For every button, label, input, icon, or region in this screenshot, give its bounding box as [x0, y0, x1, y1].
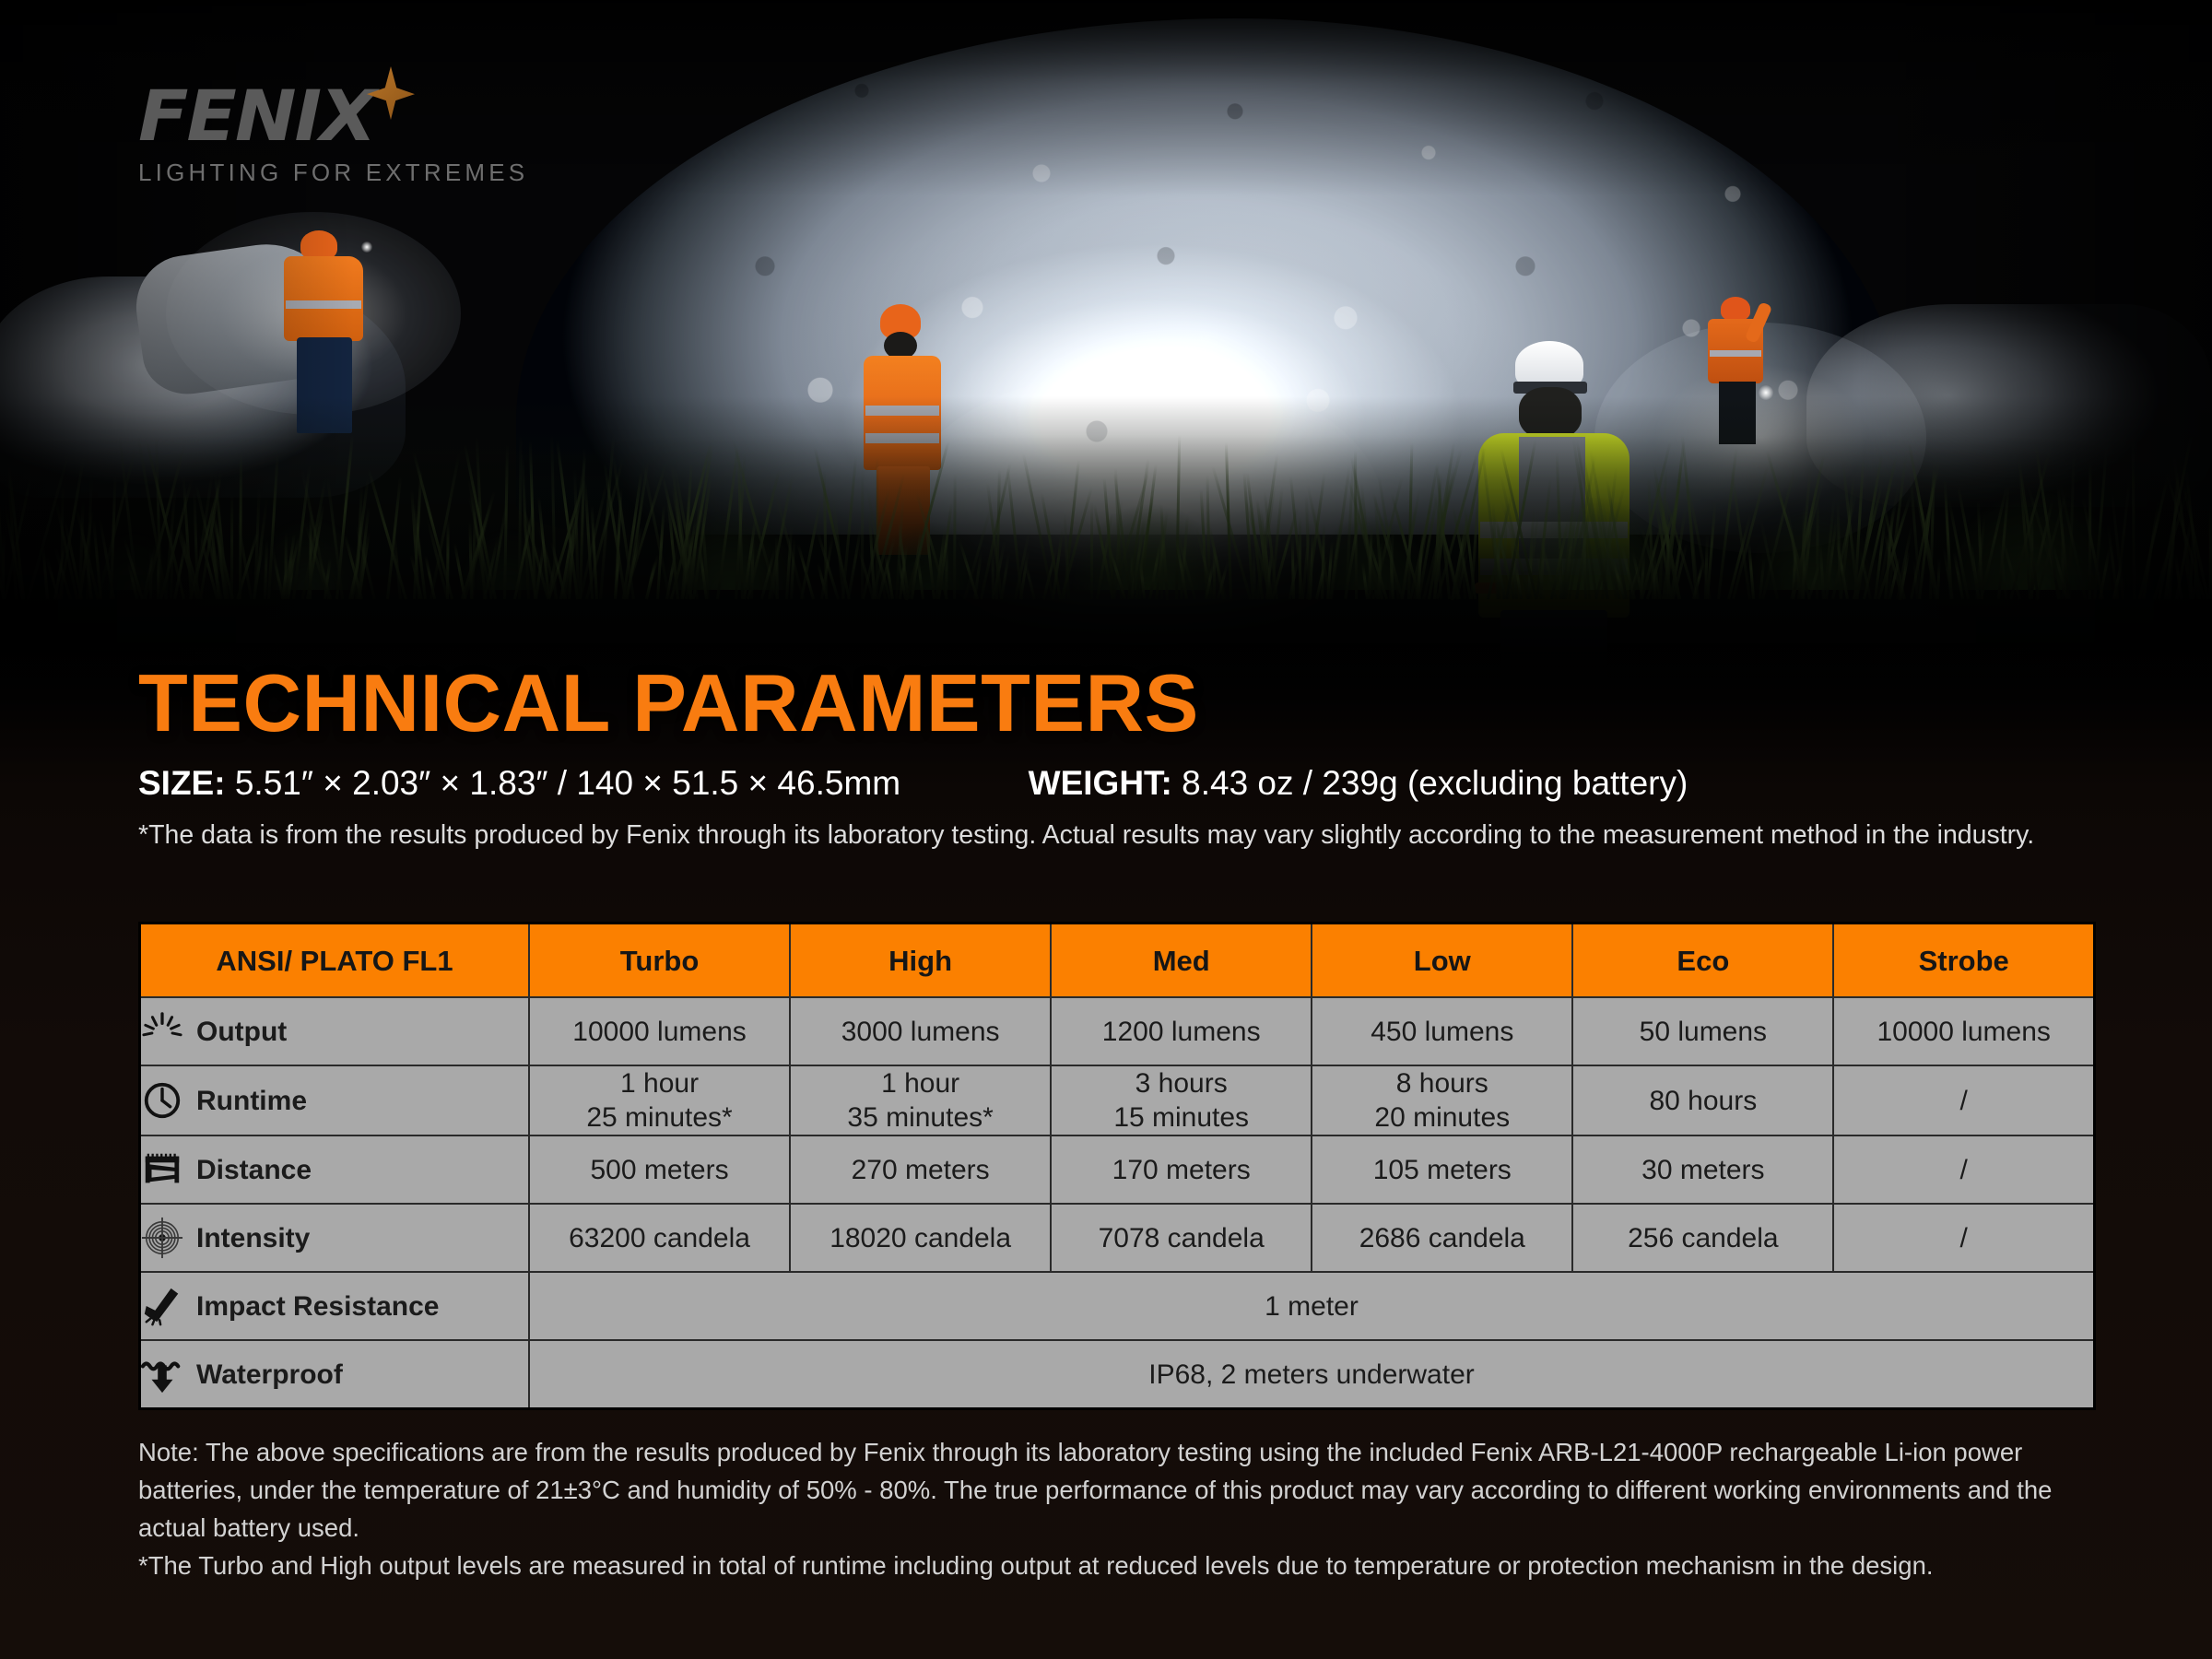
column-header-turbo: Turbo	[529, 924, 790, 998]
column-header-high: High	[790, 924, 1051, 998]
lab-testing-disclaimer: *The data is from the results produced b…	[138, 816, 2037, 854]
table-row: Runtime1 hour25 minutes*1 hour35 minutes…	[140, 1065, 2095, 1135]
column-header-med: Med	[1051, 924, 1312, 998]
grass-blade	[1175, 435, 1181, 599]
grass-blade	[2131, 437, 2135, 599]
light-burst-icon	[141, 1010, 183, 1053]
row-label: Impact Resistance	[196, 1289, 439, 1324]
cell-intensity-turbo: 63200 candela	[529, 1204, 790, 1272]
row-header-distance: Distance	[140, 1135, 530, 1204]
cell-intensity-med: 7078 candela	[1051, 1204, 1312, 1272]
grass-blade	[1006, 468, 1022, 599]
row-label: Waterproof	[196, 1358, 343, 1392]
specs-table-head: ANSI/ PLATO FL1TurboHighMedLowEcoStrobe	[140, 924, 2095, 998]
footer-note: Note: The above specifications are from …	[138, 1433, 2083, 1584]
row-header-output: Output	[140, 997, 530, 1065]
column-header-low: Low	[1312, 924, 1572, 998]
grass-blade	[917, 557, 925, 599]
logo-tagline: LIGHTING FOR EXTREMES	[138, 159, 528, 187]
grass-blade	[1480, 441, 1501, 600]
page-title: TECHNICAL PARAMETERS	[138, 659, 1199, 747]
cell-intensity-strobe: /	[1833, 1204, 2094, 1272]
waterproof-icon	[141, 1353, 183, 1395]
grass-blade	[2138, 475, 2170, 600]
grass-blade	[800, 500, 822, 599]
specs-table-wrapper: ANSI/ PLATO FL1TurboHighMedLowEcoStrobe …	[138, 922, 2096, 1410]
cell-intensity-eco: 256 candela	[1572, 1204, 1833, 1272]
cell-runtime-eco: 80 hours	[1572, 1065, 1833, 1135]
table-row: Output10000 lumens3000 lumens1200 lumens…	[140, 997, 2095, 1065]
weight-label: WEIGHT:	[1029, 764, 1172, 802]
grass-blade	[1936, 559, 1941, 599]
grass-blade	[1299, 516, 1301, 599]
grass-blade	[503, 445, 509, 599]
specs-table-body: Output10000 lumens3000 lumens1200 lumens…	[140, 997, 2095, 1409]
cell-runtime-high: 1 hour35 minutes*	[790, 1065, 1051, 1135]
row-header-waterproof: Waterproof	[140, 1340, 530, 1409]
cell-runtime-strobe: /	[1833, 1065, 2094, 1135]
size-value: 5.51″ × 2.03″ × 1.83″ / 140 × 51.5 × 46.…	[235, 764, 900, 802]
row-label: Distance	[196, 1153, 312, 1187]
size-label: SIZE:	[138, 764, 226, 802]
grass-blade	[157, 551, 159, 599]
grass-blade	[2099, 547, 2112, 599]
grass-blade	[335, 435, 354, 599]
cell-distance-eco: 30 meters	[1572, 1135, 1833, 1204]
row-label: Intensity	[196, 1221, 310, 1255]
cell-distance-turbo: 500 meters	[529, 1135, 790, 1204]
cell-distance-med: 170 meters	[1051, 1135, 1312, 1204]
cell-runtime-turbo: 1 hour25 minutes*	[529, 1065, 790, 1135]
specs-table: ANSI/ PLATO FL1TurboHighMedLowEcoStrobe …	[138, 922, 2096, 1410]
grass-blade	[1647, 477, 1654, 599]
cell-output-strobe: 10000 lumens	[1833, 997, 2094, 1065]
footer-note-line-1: Note: The above specifications are from …	[138, 1433, 2083, 1547]
cell-distance-low: 105 meters	[1312, 1135, 1572, 1204]
cell-output-high: 3000 lumens	[790, 997, 1051, 1065]
footer-note-line-2: *The Turbo and High output levels are me…	[138, 1547, 2083, 1584]
grass-blade	[309, 513, 312, 599]
table-row: WaterproofIP68, 2 meters underwater	[140, 1340, 2095, 1409]
cell-intensity-low: 2686 candela	[1312, 1204, 1572, 1272]
cell-impact-resistance: 1 meter	[529, 1272, 2095, 1340]
cell-intensity-high: 18020 candela	[790, 1204, 1051, 1272]
grass-blades	[0, 424, 2212, 599]
specs-panel: TECHNICAL PARAMETERS SIZE: 5.51″ × 2.03″…	[0, 645, 2212, 1659]
table-header-row: ANSI/ PLATO FL1TurboHighMedLowEcoStrobe	[140, 924, 2095, 998]
row-header-runtime: Runtime	[140, 1065, 530, 1135]
weight-value: 8.43 oz / 239g (excluding battery)	[1182, 764, 1688, 802]
cell-output-turbo: 10000 lumens	[529, 997, 790, 1065]
cell-output-eco: 50 lumens	[1572, 997, 1833, 1065]
row-label: Output	[196, 1015, 287, 1049]
table-row: Intensity63200 candela18020 candela7078 …	[140, 1204, 2095, 1272]
table-row: Distance500 meters270 meters170 meters10…	[140, 1135, 2095, 1204]
grass-blade	[1090, 501, 1093, 599]
column-header-eco: Eco	[1572, 924, 1833, 998]
column-header-ansi-plato-fl1: ANSI/ PLATO FL1	[140, 924, 530, 998]
grass-blade	[1944, 479, 1953, 599]
row-header-impact-resistance: Impact Resistance	[140, 1272, 530, 1340]
grass-blade	[230, 492, 233, 599]
grass-blade	[953, 474, 957, 599]
row-label: Runtime	[196, 1084, 307, 1118]
intensity-target-icon	[141, 1217, 183, 1259]
size-weight-line: SIZE: 5.51″ × 2.03″ × 1.83″ / 140 × 51.5…	[138, 763, 2074, 804]
grass-blade	[110, 474, 117, 599]
cell-distance-strobe: /	[1833, 1135, 2094, 1204]
grass-blade	[41, 547, 49, 599]
cell-runtime-med: 3 hours15 minutes	[1051, 1065, 1312, 1135]
impact-drop-icon	[141, 1285, 183, 1327]
cell-distance-high: 270 meters	[790, 1135, 1051, 1204]
logo-mark: FENIX	[138, 81, 470, 155]
column-header-strobe: Strobe	[1833, 924, 2094, 998]
logo-wordmark: FENIX	[138, 81, 487, 151]
distance-beam-icon	[141, 1148, 183, 1191]
row-header-intensity: Intensity	[140, 1204, 530, 1272]
grass-blade	[861, 469, 864, 599]
cell-waterproof: IP68, 2 meters underwater	[529, 1340, 2095, 1409]
cell-runtime-low: 8 hours20 minutes	[1312, 1065, 1572, 1135]
clock-icon	[141, 1079, 183, 1122]
table-row: Impact Resistance1 meter	[140, 1272, 2095, 1340]
fenix-logo: FENIX LIGHTING FOR EXTREMES	[138, 81, 528, 187]
cell-output-low: 450 lumens	[1312, 997, 1572, 1065]
grass-blade	[945, 542, 948, 599]
cell-output-med: 1200 lumens	[1051, 997, 1312, 1065]
